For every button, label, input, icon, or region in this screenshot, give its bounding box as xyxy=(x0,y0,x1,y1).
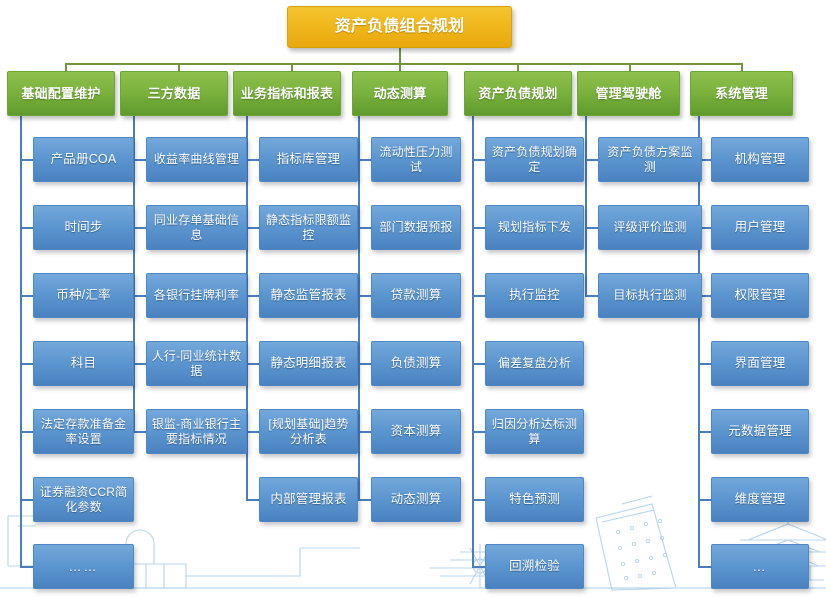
category-node-4[interactable]: 动态测算 xyxy=(352,71,448,116)
category-node-5[interactable]: 资产负债规划 xyxy=(464,71,572,116)
connector-stub-7-4 xyxy=(698,363,711,365)
leaf-node-5-2[interactable]: 规划指标下发 xyxy=(485,205,584,250)
connector-bus-drop-2 xyxy=(178,63,180,71)
connector-stub-3-5 xyxy=(246,431,259,433)
connector-stub-7-5 xyxy=(698,431,711,433)
category-node-3[interactable]: 业务指标和报表 xyxy=(233,71,341,116)
leaf-node-4-3[interactable]: 贷款测算 xyxy=(371,273,461,318)
connector-stub-1-2 xyxy=(20,227,33,229)
category-node-1[interactable]: 基础配置维护 xyxy=(7,71,115,116)
category-node-7[interactable]: 系统管理 xyxy=(690,71,793,116)
leaf-node-2-5[interactable]: 银监-商业银行主要指标情况 xyxy=(146,409,247,454)
leaf-node-1-3[interactable]: 币种/汇率 xyxy=(33,273,134,318)
connector-stub-6-2 xyxy=(585,227,598,229)
category-node-6[interactable]: 管理驾驶舱 xyxy=(577,71,680,116)
leaf-node-2-1[interactable]: 收益率曲线管理 xyxy=(146,137,247,182)
leaf-node-7-5[interactable]: 元数据管理 xyxy=(711,409,809,454)
leaf-node-2-4[interactable]: 人行-同业统计数据 xyxy=(146,341,247,386)
leaf-node-7-3[interactable]: 权限管理 xyxy=(711,273,809,318)
connector-stub-1-5 xyxy=(20,431,33,433)
connector-stub-3-2 xyxy=(246,227,259,229)
connector-stub-3-4 xyxy=(246,363,259,365)
leaf-node-3-2[interactable]: 静态指标限额监控 xyxy=(259,205,358,250)
leaf-node-4-2[interactable]: 部门数据预报 xyxy=(371,205,461,250)
connector-stub-2-3 xyxy=(133,295,146,297)
category-node-2[interactable]: 三方数据 xyxy=(120,71,228,116)
leaf-node-5-6[interactable]: 特色预测 xyxy=(485,477,584,522)
connector-bus-drop-4 xyxy=(399,63,401,71)
connector-bus-drop-7 xyxy=(741,63,743,71)
diagram-canvas: 资产负债组合规划 基础配置维护 三方数据 业务指标和报表 动态测算 资产负债规划… xyxy=(0,0,826,598)
leaf-node-4-4[interactable]: 负债测算 xyxy=(371,341,461,386)
connector-stub-2-1 xyxy=(133,159,146,161)
connector-stub-2-5 xyxy=(133,431,146,433)
leaf-node-7-7[interactable]: … xyxy=(711,544,809,589)
leaf-node-1-1[interactable]: 产品册COA xyxy=(33,137,134,182)
root-node[interactable]: 资产负债组合规划 xyxy=(287,6,512,48)
connector-stub-7-6 xyxy=(698,499,711,501)
connector-trunk-6 xyxy=(585,116,587,295)
leaf-node-3-1[interactable]: 指标库管理 xyxy=(259,137,358,182)
leaf-node-5-3[interactable]: 执行监控 xyxy=(485,273,584,318)
connector-stub-1-3 xyxy=(20,295,33,297)
leaf-node-5-1[interactable]: 资产负债规划确定 xyxy=(485,137,584,182)
connector-stub-6-1 xyxy=(585,159,598,161)
leaf-node-4-5[interactable]: 资本测算 xyxy=(371,409,461,454)
connector-bus-drop-6 xyxy=(629,63,631,71)
connector-stub-4-5 xyxy=(358,431,371,433)
connector-stub-1-4 xyxy=(20,363,33,365)
leaf-node-4-6[interactable]: 动态测算 xyxy=(371,477,461,522)
leaf-node-7-6[interactable]: 维度管理 xyxy=(711,477,809,522)
connector-root-stem xyxy=(399,47,401,64)
connector-stub-5-1 xyxy=(472,159,485,161)
leaf-node-6-3[interactable]: 目标执行监测 xyxy=(598,273,702,318)
connector-stub-4-2 xyxy=(358,227,371,229)
connector-stub-3-3 xyxy=(246,295,259,297)
connector-stub-5-4 xyxy=(472,363,485,365)
connector-stub-6-3 xyxy=(585,295,598,297)
leaf-node-1-4[interactable]: 科目 xyxy=(33,341,134,386)
connector-stub-1-7 xyxy=(20,566,33,568)
leaf-node-5-4[interactable]: 偏差复盘分析 xyxy=(485,341,584,386)
connector-stub-1-1 xyxy=(20,159,33,161)
connector-stub-5-5 xyxy=(472,431,485,433)
leaf-node-4-1[interactable]: 流动性压力测试 xyxy=(371,137,461,182)
leaf-node-1-2[interactable]: 时间步 xyxy=(33,205,134,250)
leaf-node-6-2[interactable]: 评级评价监测 xyxy=(598,205,702,250)
connector-stub-2-2 xyxy=(133,227,146,229)
connector-stub-4-1 xyxy=(358,159,371,161)
connector-stub-3-6 xyxy=(246,499,259,501)
connector-stub-3-1 xyxy=(246,159,259,161)
connector-stub-4-6 xyxy=(358,499,371,501)
leaf-node-3-4[interactable]: 静态明细报表 xyxy=(259,341,358,386)
leaf-node-5-5[interactable]: 归因分析达标测算 xyxy=(485,409,584,454)
connector-bus-drop-5 xyxy=(517,63,519,71)
leaf-node-7-2[interactable]: 用户管理 xyxy=(711,205,809,250)
connector-bus-drop-1 xyxy=(65,63,67,71)
leaf-node-2-3[interactable]: 各银行挂牌利率 xyxy=(146,273,247,318)
leaf-node-3-6[interactable]: 内部管理报表 xyxy=(259,477,358,522)
leaf-node-7-4[interactable]: 界面管理 xyxy=(711,341,809,386)
connector-stub-5-6 xyxy=(472,499,485,501)
leaf-node-7-1[interactable]: 机构管理 xyxy=(711,137,809,182)
leaf-node-1-7[interactable]: …… xyxy=(33,544,134,589)
leaf-node-1-5[interactable]: 法定存款准备金率设置 xyxy=(33,409,134,454)
connector-bus-drop-3 xyxy=(291,63,293,71)
leaf-node-5-7[interactable]: 回溯检验 xyxy=(485,544,584,589)
connector-stub-4-3 xyxy=(358,295,371,297)
connector-stub-5-3 xyxy=(472,295,485,297)
connector-stub-4-4 xyxy=(358,363,371,365)
connector-stub-5-7 xyxy=(472,566,485,568)
leaf-node-1-6[interactable]: 证券融资CCR简化参数 xyxy=(33,477,134,522)
connector-stub-5-2 xyxy=(472,227,485,229)
connector-stub-1-6 xyxy=(20,499,33,501)
connector-root-bus xyxy=(65,63,743,65)
leaf-node-3-3[interactable]: 静态监管报表 xyxy=(259,273,358,318)
connector-stub-2-4 xyxy=(133,363,146,365)
leaf-node-6-1[interactable]: 资产负债方案监测 xyxy=(598,137,702,182)
connector-trunk-4 xyxy=(358,116,360,499)
connector-stub-7-7 xyxy=(698,566,711,568)
leaf-node-3-5[interactable]: [规划基础]趋势分析表 xyxy=(259,409,358,454)
leaf-node-2-2[interactable]: 同业存单基础信息 xyxy=(146,205,247,250)
